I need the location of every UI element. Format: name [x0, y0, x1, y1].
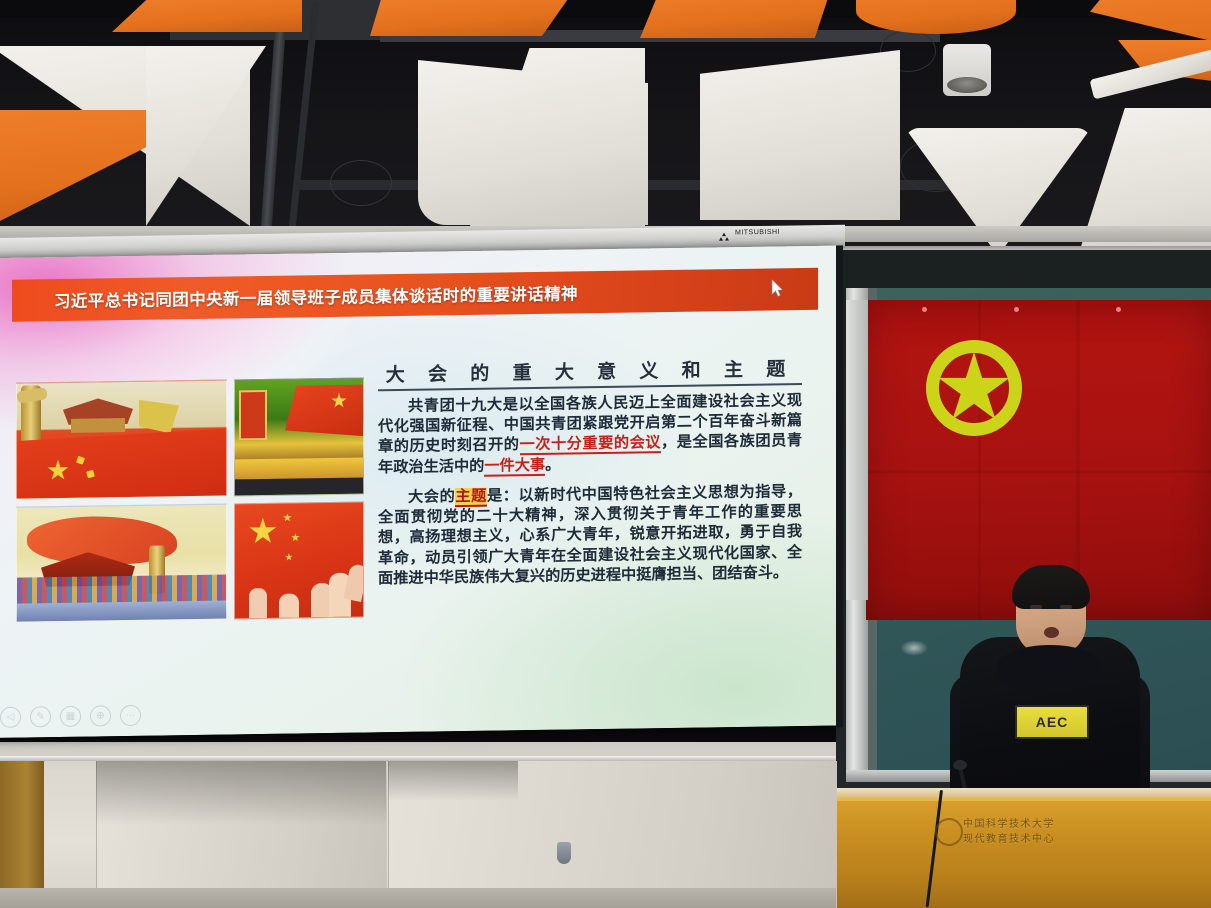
projector-brand-label: MITSUBISHI — [735, 229, 780, 237]
photo-tiananmen-flowerbed-flag — [234, 378, 364, 496]
projection-screen[interactable]: 习近平总书记同团中央新一届领导班子成员集体谈话时的重要讲话精神 — [0, 246, 836, 738]
photo-tiananmen-huabiao-flag — [16, 380, 227, 500]
ceiling-panel-orange — [856, 0, 1016, 34]
powerpoint-slide[interactable]: 习近平总书记同团中央新一届领导班子成员集体谈话时的重要讲话精神 — [0, 246, 836, 738]
flag-pin — [1014, 307, 1019, 312]
photo-flag-raised-hands — [234, 501, 364, 619]
door-handle[interactable] — [557, 842, 571, 864]
wall-panel-shadow — [388, 761, 518, 801]
previous-slide-icon[interactable]: ◁ — [0, 707, 21, 728]
p1-highlight-a: 一次十分重要的会议 — [520, 435, 662, 456]
p2-part-a: 大会的 — [408, 488, 455, 506]
speaker-hood — [998, 645, 1102, 687]
mitsubishi-logo-icon — [718, 232, 730, 242]
p1-part-c: 。 — [545, 456, 560, 473]
hoodie-chest-logo: AEC — [1015, 705, 1089, 739]
ceiling-wire — [330, 160, 392, 206]
raised-hand — [279, 593, 299, 617]
classroom-scene: MITSUBISHI AEC 中国科学技术大学 — [0, 0, 1211, 908]
powerpoint-slideshow-controls[interactable]: ◁ ✎ ▦ ⊕ ··· — [0, 705, 141, 728]
flag-small-star — [283, 513, 292, 522]
raised-hand — [343, 563, 364, 602]
microphone-head — [953, 760, 967, 770]
national-flag-field — [285, 384, 364, 437]
chalk-mark — [900, 640, 928, 656]
wood-column — [0, 761, 44, 908]
mouse-pointer-icon — [771, 279, 783, 297]
ceiling-spotlight — [943, 44, 991, 96]
ceiling — [0, 0, 1211, 258]
speaker-eye-left — [1030, 605, 1042, 609]
gate-portrait — [239, 390, 267, 440]
podium-label-line1: 中国科学技术大学 — [963, 818, 1055, 833]
zoom-icon[interactable]: ⊕ — [90, 705, 111, 726]
foreground-water — [17, 601, 226, 622]
photo-tiananmen-crowd-celebration — [16, 503, 227, 623]
p1-highlight-b: 一件大事 — [484, 456, 545, 476]
slide-heading: 大 会 的 重 大 意 义 和 主 题 — [378, 354, 802, 391]
flag-small-star — [86, 469, 94, 478]
pen-icon[interactable]: ✎ — [30, 706, 51, 727]
flag-small-star — [285, 553, 293, 561]
raised-hand — [249, 588, 267, 618]
university-seal-icon — [935, 818, 963, 846]
tiananmen-body — [71, 418, 125, 433]
student-speaker: AEC — [950, 565, 1150, 825]
slide-title-text: 习近平总书记同团中央新一届领导班子成员集体谈话时的重要讲话精神 — [54, 280, 578, 312]
slide-paragraph-1: 共青团十九大是以全国各族人民迈上全面建设社会主义现代化强国新征程、中国共青团紧跟… — [378, 391, 802, 478]
all-slides-icon[interactable]: ▦ — [60, 706, 81, 727]
slide-title-banner: 习近平总书记同团中央新一届领导班子成员集体谈话时的重要讲话精神 — [12, 268, 818, 322]
speaker-eye-right — [1060, 605, 1072, 609]
slide-photo-grid — [16, 378, 364, 623]
flag-small-star — [291, 533, 300, 542]
p2-highlight-a: 主题 — [455, 488, 487, 507]
podium-label-line2: 现代教育技术中心 — [963, 833, 1055, 848]
yellow-drape — [139, 399, 179, 434]
speaker-mouth — [1044, 627, 1059, 638]
national-flag-field — [17, 429, 226, 499]
crowd-silhouette — [235, 477, 363, 495]
desk-edge — [0, 888, 836, 908]
slide-body: 大 会 的 重 大 意 义 和 主 题 共青团十九大是以全国各族人民迈上全面建设… — [378, 354, 802, 599]
ceiling-panel-orange — [640, 0, 830, 38]
ceiling-panel-white — [700, 50, 900, 220]
flag-big-star — [249, 517, 277, 545]
slide-paragraph-2: 大会的主题是：以新时代中国特色社会主义思想为指导，全面贯彻党的二十大精神，深入贯… — [378, 482, 802, 589]
wall-panel-shadow — [96, 761, 386, 825]
ceiling-panel-orange — [370, 0, 570, 36]
lectern — [772, 798, 1211, 908]
flag-pin — [1116, 307, 1121, 312]
speaker-hair — [1012, 565, 1090, 609]
flag-pin — [922, 307, 927, 312]
flag-left-edge-strip — [846, 300, 868, 600]
podium-label: 中国科学技术大学 现代教育技术中心 — [963, 818, 1055, 847]
more-options-icon[interactable]: ··· — [120, 705, 141, 726]
flag-fold — [866, 470, 1211, 473]
